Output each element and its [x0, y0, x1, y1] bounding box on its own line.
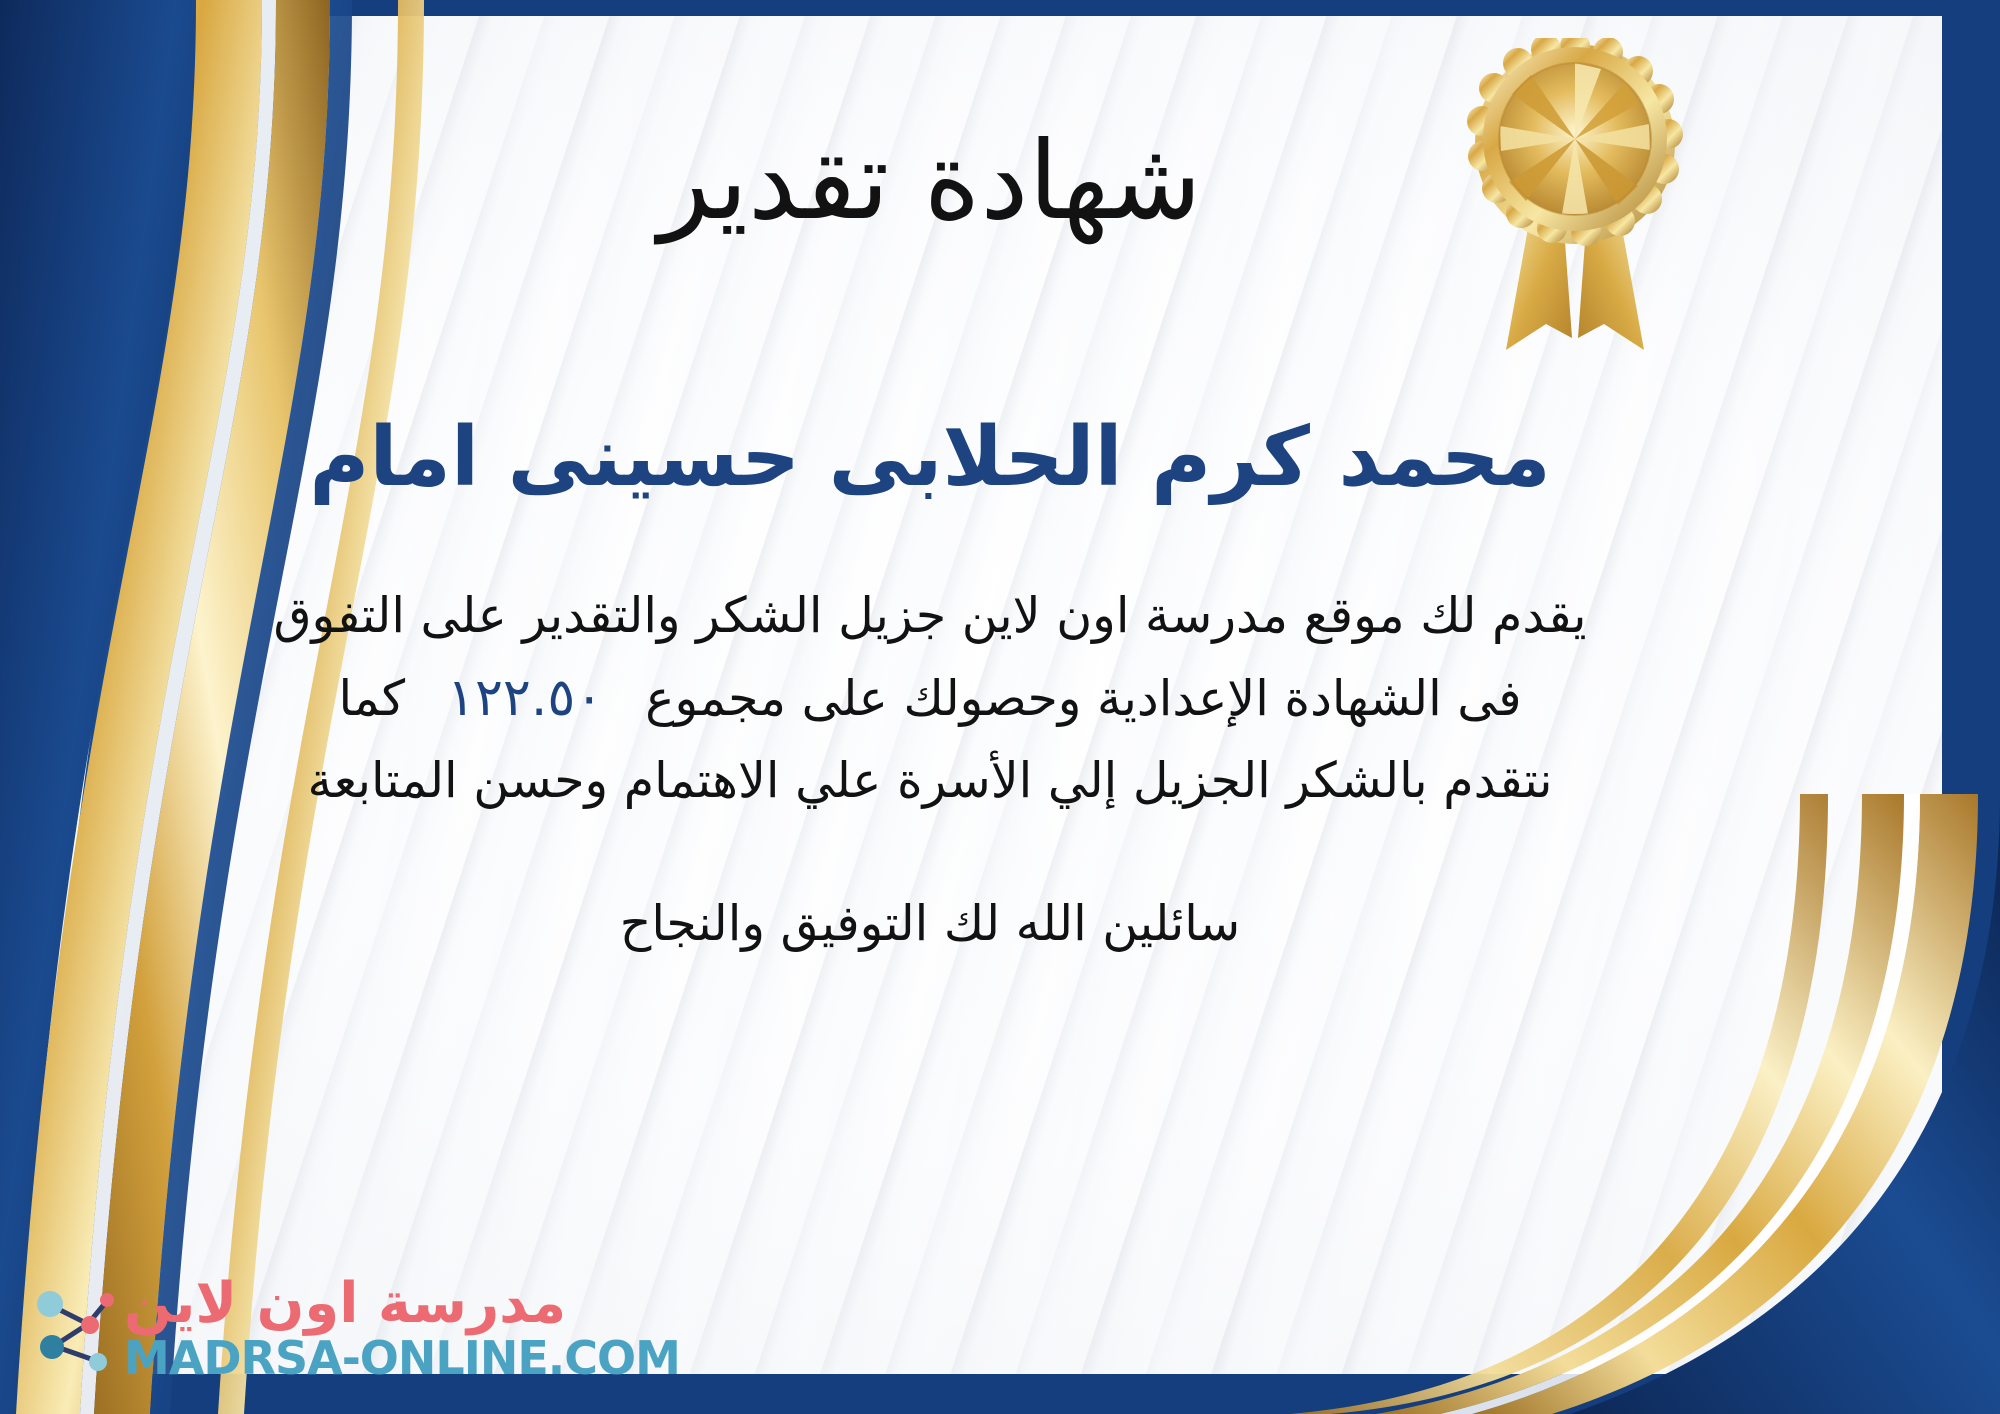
body-line-2-prefix: فى الشهادة الإعدادية وحصولك على مجموع [645, 667, 1521, 732]
body-line-2-suffix: كما [338, 667, 405, 732]
page-title: شهادة تقدير [658, 120, 1201, 244]
body-line-3: نتقدم بالشكر الجزيل إلي الأسرة علي الاهت… [10, 749, 1850, 814]
grade-total-value: ١٢٢.٥٠ [405, 664, 645, 733]
body-line-3-text: نتقدم بالشكر الجزيل إلي الأسرة علي الاهت… [307, 749, 1552, 814]
brand-text-block: مدرسة اون لاين MADRSA-ONLINE.COM [124, 1275, 680, 1382]
certificate-page: شهادة تقدير محمد كرم الحلابى حسينى امام … [0, 0, 2000, 1414]
brand-website-url: MADRSA-ONLINE.COM [124, 1334, 680, 1382]
body-line-1-text: يقدم لك موقع مدرسة اون لاين جزيل الشكر و… [274, 584, 1587, 649]
network-nodes-icon [28, 1280, 114, 1376]
closing-wishes-line: سائلين الله لك التوفيق والنجاح [620, 892, 1240, 956]
brand-arabic-name: مدرسة اون لاين [124, 1275, 566, 1334]
recipient-name: محمد كرم الحلابى حسينى امام [309, 409, 1550, 507]
body-line-1: يقدم لك موقع مدرسة اون لاين جزيل الشكر و… [10, 584, 1850, 649]
brand-logo[interactable]: مدرسة اون لاين MADRSA-ONLINE.COM [28, 1275, 680, 1382]
certificate-body: يقدم لك موقع مدرسة اون لاين جزيل الشكر و… [10, 584, 1850, 814]
certificate-content: شهادة تقدير محمد كرم الحلابى حسينى امام … [0, 0, 1930, 1414]
body-line-2: فى الشهادة الإعدادية وحصولك على مجموع ١٢… [10, 664, 1850, 733]
